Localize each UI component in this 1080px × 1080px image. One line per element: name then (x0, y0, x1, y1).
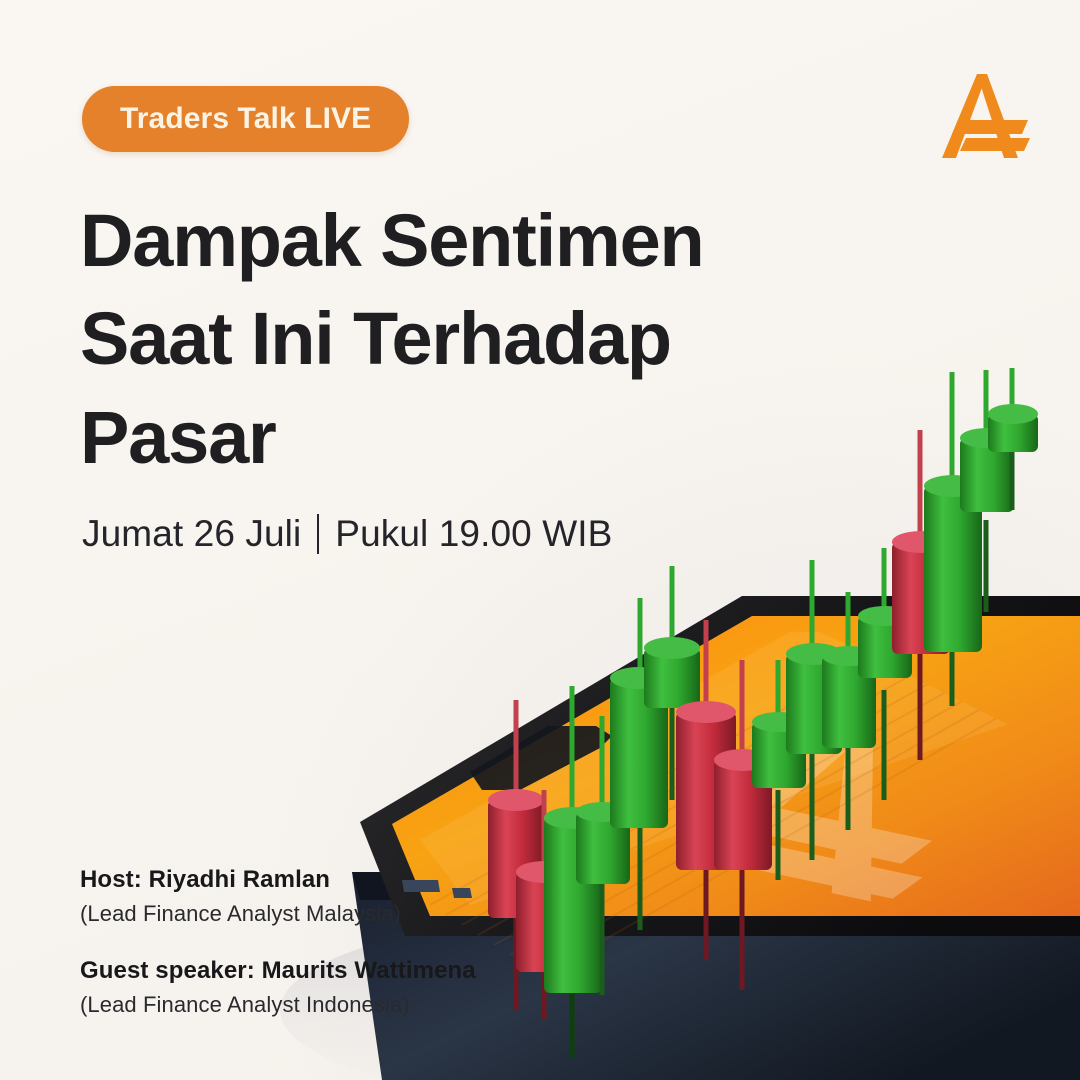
candle-10 (786, 560, 842, 860)
candle-15 (960, 370, 1014, 612)
schedule-separator (317, 514, 319, 554)
candle-13 (892, 430, 950, 760)
live-badge-label: Traders Talk LIVE (120, 102, 371, 136)
host-role: (Lead Finance Analyst Malaysia) (80, 901, 600, 927)
promo-poster: Traders Talk LIVE Dampak Sentimen Saat I… (0, 0, 1080, 1080)
candle-9 (752, 660, 806, 880)
speaker-credits: Host: Riyadhi Ramlan (Lead Finance Analy… (80, 866, 600, 1018)
page-title: Dampak Sentimen Saat Ini Terhadap Pasar (80, 192, 840, 487)
guest-role: (Lead Finance Analyst Indonesia) (80, 992, 600, 1018)
ajaib-a-logo-icon (930, 58, 1034, 168)
schedule-date: Jumat 26 Juli (82, 513, 301, 555)
host-name: Host: Riyadhi Ramlan (80, 866, 600, 894)
candle-8 (714, 660, 772, 990)
candle-5 (610, 598, 668, 930)
candle-11 (822, 592, 876, 830)
headline-line-1: Dampak Sentimen (80, 192, 840, 290)
candle-7 (676, 620, 736, 960)
headline-line-2: Saat Ini Terhadap (80, 290, 840, 388)
candle-14 (924, 372, 982, 706)
candle-16 (988, 368, 1038, 510)
candle-6 (644, 566, 700, 800)
schedule-time: Pukul 19.00 WIB (335, 513, 612, 555)
schedule-line: Jumat 26 Juli Pukul 19.00 WIB (82, 513, 612, 555)
guest-name: Guest speaker: Maurits Wattimena (80, 957, 600, 985)
live-badge: Traders Talk LIVE (82, 86, 409, 152)
credit-host: Host: Riyadhi Ramlan (Lead Finance Analy… (80, 866, 600, 927)
credit-guest: Guest speaker: Maurits Wattimena (Lead F… (80, 957, 600, 1018)
candle-12 (858, 548, 912, 800)
headline-line-3: Pasar (80, 389, 840, 487)
